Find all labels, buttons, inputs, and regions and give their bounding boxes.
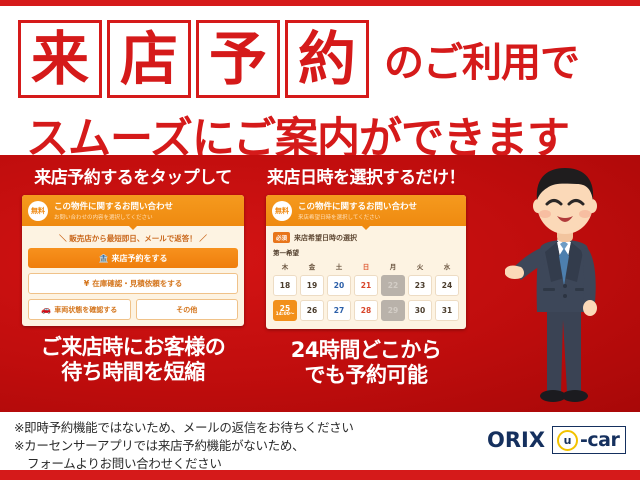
calendar-dow-row: 木 金 土 日 月 火 水: [273, 261, 459, 271]
calendar-card-header: 無料 この物件に関するお問い合わせ 来店希望日時を選択してください: [266, 195, 466, 226]
free-badge: 無料: [28, 201, 48, 221]
logo-car-text: -car: [580, 429, 619, 451]
calendar-body: 必須 来店希望日時の選択 第一希望 木 金 土 日 月 火 水 18 19 20: [266, 226, 466, 329]
column-left-caption: ご来店時にお客様の 待ち時間を短縮: [22, 335, 244, 385]
calendar-card-subtitle: 来店希望日時を選択してください: [298, 213, 417, 221]
day-number: 29: [388, 306, 398, 315]
preference-label: 第一希望: [273, 247, 459, 257]
column-right-caption-line2: でも予約可能: [266, 363, 466, 388]
column-right-caption-line1: 24時間どこから: [266, 338, 466, 363]
calendar-day-cell[interactable]: 23: [408, 275, 432, 296]
calendar-day-cell[interactable]: 20: [327, 275, 351, 296]
logo-u-circle: u: [557, 430, 578, 451]
dow-sat: 土: [327, 261, 351, 271]
dow-fri: 金: [300, 261, 324, 271]
free-badge-calendar: 無料: [272, 201, 292, 221]
headline-primary: 来 店 予 約 のご利用で: [18, 20, 579, 98]
dow-tue: 火: [408, 261, 432, 271]
calendar-day-cell-disabled: 22: [381, 275, 405, 296]
disclaimer-note: ※即時予約機能ではないため、メールの返信をお待ちください ※カーセンサーアプリで…: [14, 419, 474, 473]
calendar-day-cell[interactable]: 24: [435, 275, 459, 296]
column-right: 来店日時を選択するだけ！ 無料 この物件に関するお問い合わせ 来店希望日時を選択…: [266, 163, 466, 388]
calendar-card: 無料 この物件に関するお問い合わせ 来店希望日時を選択してください 必須 来店希…: [266, 195, 466, 329]
headline-tail-text: のご利用で: [384, 30, 579, 88]
calendar-week-1: 18 19 20 21 22 23 24: [273, 275, 459, 296]
column-left-caption-line2: 待ち時間を短縮: [22, 360, 244, 385]
calendar-card-title: この物件に関するお問い合わせ: [298, 200, 417, 212]
bottom-red-rule: [0, 470, 640, 480]
day-time-slot: 14:00〜: [276, 313, 295, 318]
calendar-day-cell[interactable]: 18: [273, 275, 297, 296]
inquiry-card: 無料 この物件に関するお問い合わせ お問い合わせの内容を選択してください ＼ 販…: [22, 195, 244, 326]
stock-quote-button[interactable]: ¥ 在庫確認・見積依頼をする: [28, 273, 238, 294]
day-number: 18: [280, 281, 290, 290]
header-notch: [128, 225, 138, 230]
required-badge: 必須: [273, 232, 290, 243]
vehicle-condition-button[interactable]: 🚗 車両状態を確認する: [28, 299, 131, 320]
calendar-day-cell-disabled: 29: [381, 300, 405, 321]
other-label: その他: [176, 305, 197, 315]
calendar-day-cell[interactable]: 26: [300, 300, 324, 321]
calendar-week-2: 25 14:00〜 26 27 28 29 30 31: [273, 300, 459, 321]
day-number: 20: [334, 281, 344, 290]
calendar-day-cell[interactable]: 21: [354, 275, 378, 296]
day-number: 22: [388, 281, 398, 290]
other-button[interactable]: その他: [136, 299, 239, 320]
car-icon: 🚗: [41, 305, 51, 314]
disclaimer-line-2: ※カーセンサーアプリでは来店予約機能がないため、: [14, 437, 474, 455]
header-section: 来 店 予 約 のご利用で スムーズにご案内ができます: [0, 6, 640, 155]
dow-wed: 水: [435, 261, 459, 271]
kanji-box-4: 約: [285, 20, 369, 98]
stock-quote-label: 在庫確認・見積依頼をする: [92, 278, 182, 289]
calendar-day-cell[interactable]: 28: [354, 300, 378, 321]
calendar-day-cell[interactable]: 30: [408, 300, 432, 321]
advertisement-banner: 来 店 予 約 のご利用で スムーズにご案内ができます 来店予約するをタップして…: [0, 0, 640, 480]
vehicle-condition-label: 車両状態を確認する: [54, 305, 117, 315]
column-right-title: 来店日時を選択するだけ！: [266, 163, 466, 188]
day-number: 21: [361, 281, 371, 290]
store-icon: 🏦: [99, 254, 109, 263]
column-left-title: 来店予約するをタップして: [22, 163, 244, 188]
dow-sun: 日: [354, 261, 378, 271]
required-row: 必須 来店希望日時の選択: [273, 232, 459, 243]
day-number: 28: [361, 306, 371, 315]
salesman-illustration: [505, 160, 625, 410]
column-right-caption: 24時間どこから でも予約可能: [266, 338, 466, 388]
day-number: 27: [334, 306, 344, 315]
yen-icon: ¥: [84, 279, 90, 288]
day-number: 23: [415, 281, 425, 290]
dow-thu: 木: [273, 261, 297, 271]
inquiry-card-header: 無料 この物件に関するお問い合わせ お問い合わせの内容を選択してください: [22, 195, 244, 226]
disclaimer-line-1: ※即時予約機能ではないため、メールの返信をお待ちください: [14, 419, 474, 437]
reserve-visit-button[interactable]: 🏦 来店予約をする: [28, 248, 238, 268]
secondary-button-row: 🚗 車両状態を確認する その他: [28, 299, 238, 320]
kanji-box-2: 店: [107, 20, 191, 98]
column-left: 来店予約するをタップして 無料 この物件に関するお問い合わせ お問い合わせの内容…: [22, 163, 244, 385]
day-number: 30: [415, 306, 425, 315]
orix-ucar-logo: ORIX u -car: [487, 424, 626, 456]
day-number: 31: [442, 306, 452, 315]
day-number: 26: [307, 306, 317, 315]
calendar-day-cell[interactable]: 27: [327, 300, 351, 321]
header-notch-calendar: [361, 225, 371, 230]
inquiry-card-title: この物件に関するお問い合わせ: [54, 200, 173, 212]
day-number: 19: [307, 281, 317, 290]
calendar-day-cell[interactable]: 19: [300, 275, 324, 296]
kanji-box-3: 予: [196, 20, 280, 98]
column-left-caption-line1: ご来店時にお客様の: [22, 335, 244, 360]
reserve-visit-label: 来店予約をする: [111, 253, 167, 264]
logo-ucar-box: u -car: [552, 426, 626, 454]
logo-orix-text: ORIX: [487, 428, 545, 452]
day-number: 24: [442, 281, 452, 290]
kanji-box-1: 来: [18, 20, 102, 98]
calendar-day-cell-selected[interactable]: 25 14:00〜: [273, 300, 297, 321]
calendar-day-cell[interactable]: 31: [435, 300, 459, 321]
required-label: 来店希望日時の選択: [294, 233, 357, 243]
inquiry-card-subtitle: お問い合わせの内容を選択してください: [54, 213, 173, 221]
dow-mon: 月: [381, 261, 405, 271]
